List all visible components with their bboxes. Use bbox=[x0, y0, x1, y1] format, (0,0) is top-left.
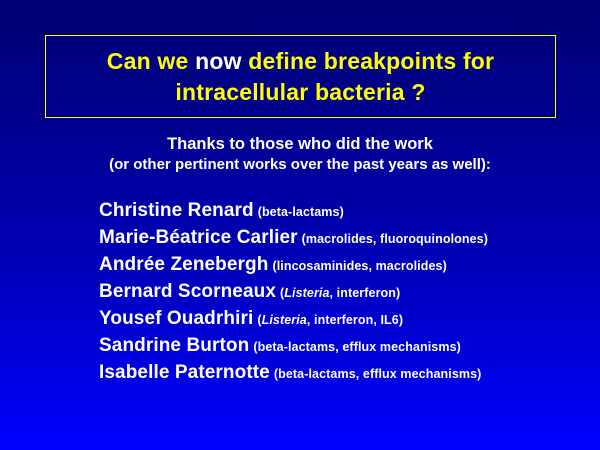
list-item: Christine Renard (beta-lactams) bbox=[99, 200, 589, 227]
list-item: Bernard Scorneaux (Listeria, interferon) bbox=[99, 281, 589, 308]
list-item: Marie-Béatrice Carlier (macrolides, fluo… bbox=[99, 227, 589, 254]
subtitle-note: (or other pertinent works over the past … bbox=[0, 155, 600, 175]
person-topics-pre: (lincosaminides, macrolides) bbox=[272, 259, 446, 273]
person-name: Andrée Zenebergh bbox=[99, 254, 268, 276]
contributor-list: Christine Renard (beta-lactams) Marie-Bé… bbox=[99, 200, 589, 389]
title-box: Can we now define breakpoints for intrac… bbox=[45, 35, 556, 118]
person-topics: (beta-lactams, efflux mechanisms) bbox=[274, 367, 482, 381]
title-line-1: Can we now define breakpoints for bbox=[107, 46, 494, 76]
person-name: Yousef Ouadrhiri bbox=[99, 308, 253, 330]
person-topics-pre: (beta-lactams) bbox=[258, 205, 344, 219]
person-topics: (beta-lactams, efflux mechanisms) bbox=[253, 340, 461, 354]
person-topics-pre: (beta-lactams, efflux mechanisms) bbox=[274, 367, 482, 381]
person-topics: (macrolides, fluoroquinolones) bbox=[302, 232, 488, 246]
title-text-part-2: define breakpoints for bbox=[242, 48, 495, 74]
person-topics-post: , interferon) bbox=[330, 286, 401, 300]
subtitle-block: Thanks to those who did the work (or oth… bbox=[0, 134, 600, 175]
title-text-part-1: Can we bbox=[107, 48, 195, 74]
person-name: Bernard Scorneaux bbox=[99, 281, 276, 303]
person-topics-pre: (beta-lactams, efflux mechanisms) bbox=[253, 340, 461, 354]
person-topics-italic: Listeria bbox=[284, 286, 329, 300]
person-topics: (Listeria, interferon, IL6) bbox=[257, 313, 403, 327]
person-topics: (beta-lactams) bbox=[258, 205, 344, 219]
person-topics-pre: (macrolides, fluoroquinolones) bbox=[302, 232, 488, 246]
slide-root: Can we now define breakpoints for intrac… bbox=[0, 0, 600, 450]
list-item: Yousef Ouadrhiri (Listeria, interferon, … bbox=[99, 308, 589, 335]
person-name: Marie-Béatrice Carlier bbox=[99, 227, 298, 249]
person-name: Christine Renard bbox=[99, 200, 254, 222]
person-topics: (lincosaminides, macrolides) bbox=[272, 259, 446, 273]
title-line-2: intracellular bacteria ? bbox=[175, 77, 425, 107]
person-name: Isabelle Paternotte bbox=[99, 362, 270, 384]
person-topics-italic: Listeria bbox=[262, 313, 307, 327]
subtitle-heading: Thanks to those who did the work bbox=[0, 134, 600, 155]
list-item: Sandrine Burton (beta-lactams, efflux me… bbox=[99, 335, 589, 362]
list-item: Andrée Zenebergh (lincosaminides, macrol… bbox=[99, 254, 589, 281]
person-name: Sandrine Burton bbox=[99, 335, 249, 357]
person-topics-post: , interferon, IL6) bbox=[307, 313, 403, 327]
title-text-highlight: now bbox=[195, 48, 242, 74]
list-item: Isabelle Paternotte (beta-lactams, efflu… bbox=[99, 362, 589, 389]
person-topics: (Listeria, interferon) bbox=[280, 286, 400, 300]
